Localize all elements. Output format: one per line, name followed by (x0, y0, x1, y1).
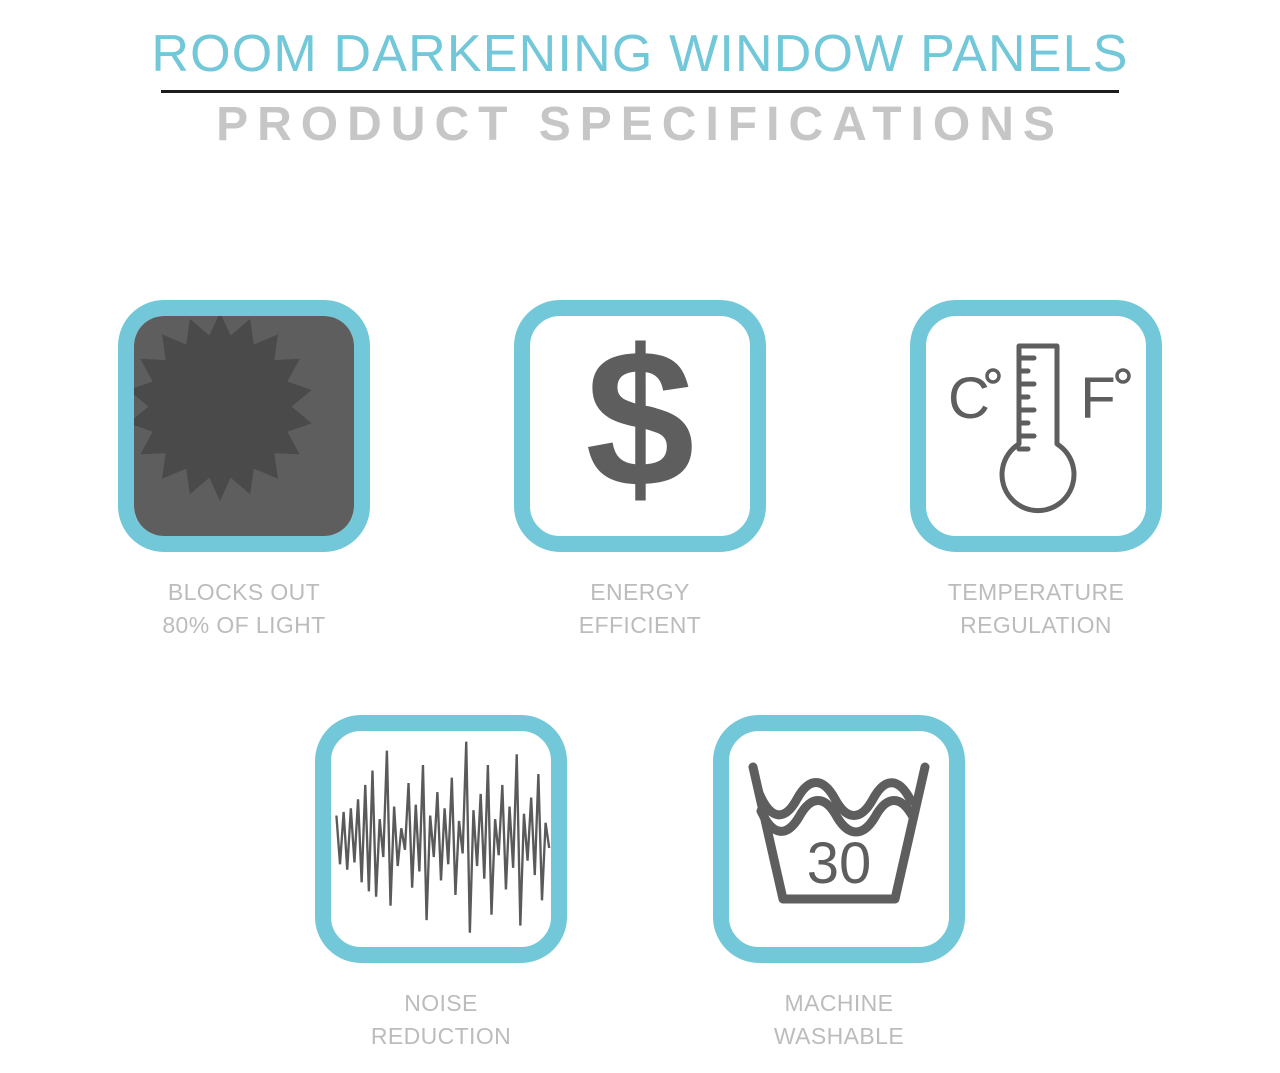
page-header: ROOM DARKENING WINDOW PANELS PRODUCT SPE… (0, 0, 1280, 149)
svg-text:$: $ (585, 326, 694, 526)
feature-caption: BLOCKS OUT 80% OF LIGHT (162, 576, 325, 641)
wash-tub-icon: 30 (739, 749, 939, 929)
feature-noise-reduction[interactable]: NOISE REDUCTION (311, 715, 571, 1052)
dollar-sign-icon: $ (540, 326, 740, 526)
feature-tile[interactable]: 30 (713, 715, 965, 963)
feature-tile[interactable] (315, 715, 567, 963)
feature-temperature-regulation[interactable]: C F TEMPERATURE REGULATION (906, 300, 1166, 641)
page-subtitle: PRODUCT SPECIFICATIONS (0, 93, 1280, 149)
svg-text:C: C (948, 366, 990, 431)
feature-energy-efficient[interactable]: $ ENERGY EFFICIENT (510, 300, 770, 641)
caption-line-1: NOISE (371, 987, 511, 1020)
sun-blocked-icon (134, 316, 354, 536)
feature-caption: NOISE REDUCTION (371, 987, 511, 1052)
caption-line-2: EFFICIENT (579, 609, 701, 642)
feature-caption: ENERGY EFFICIENT (579, 576, 701, 641)
caption-line-2: REGULATION (948, 609, 1125, 642)
feature-caption: TEMPERATURE REGULATION (948, 576, 1125, 641)
feature-machine-washable[interactable]: 30 MACHINE WASHABLE (709, 715, 969, 1052)
feature-caption: MACHINE WASHABLE (774, 987, 904, 1052)
caption-line-2: WASHABLE (774, 1020, 904, 1053)
svg-text:F: F (1080, 366, 1115, 431)
caption-line-1: MACHINE (774, 987, 904, 1020)
feature-tile[interactable] (118, 300, 370, 552)
caption-line-2: 80% OF LIGHT (162, 609, 325, 642)
caption-line-1: BLOCKS OUT (162, 576, 325, 609)
feature-row-bottom: NOISE REDUCTION 30 MACHIN (0, 715, 1280, 1052)
page-title: ROOM DARKENING WINDOW PANELS (0, 0, 1280, 80)
feature-tile[interactable]: $ (514, 300, 766, 552)
thermometer-icon: C F (931, 326, 1141, 526)
feature-grid: BLOCKS OUT 80% OF LIGHT $ ENERGY EFFICIE… (0, 300, 1280, 1053)
caption-line-1: TEMPERATURE (948, 576, 1125, 609)
feature-blocks-light[interactable]: BLOCKS OUT 80% OF LIGHT (114, 300, 374, 641)
sound-wave-icon (331, 717, 551, 961)
feature-row-top: BLOCKS OUT 80% OF LIGHT $ ENERGY EFFICIE… (0, 300, 1280, 641)
caption-line-2: REDUCTION (371, 1020, 511, 1053)
wash-temperature-label: 30 (807, 831, 872, 896)
caption-line-1: ENERGY (579, 576, 701, 609)
feature-tile[interactable]: C F (910, 300, 1162, 552)
